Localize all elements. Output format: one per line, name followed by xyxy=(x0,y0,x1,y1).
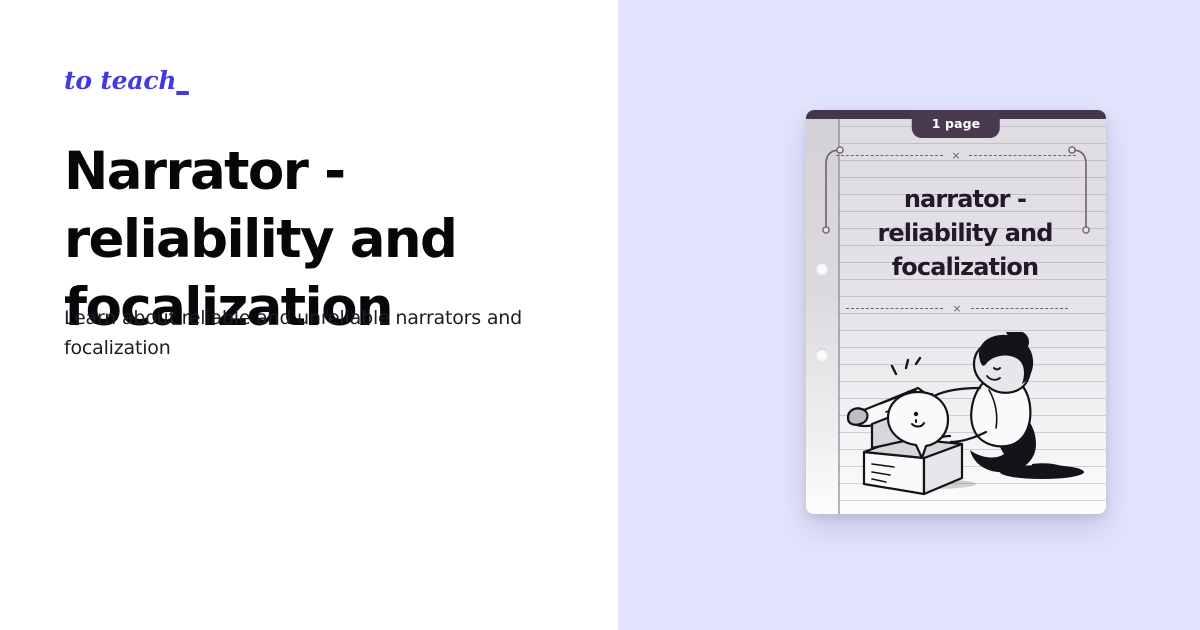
brand-cursor: _ xyxy=(176,66,188,95)
og-image-canvas: to teach_ Narrator - reliability and foc… xyxy=(0,0,1200,630)
page-subtitle: Learn about reliable and unreliable narr… xyxy=(64,303,564,363)
binder-margin-strip xyxy=(806,110,838,514)
cross-mark-icon: × xyxy=(952,303,961,314)
right-preview-panel: 1 page × xyxy=(618,0,1200,630)
binder-hole-icon xyxy=(816,348,828,360)
worksheet-illustration xyxy=(846,332,1094,500)
worksheet-preview-card[interactable]: 1 page × xyxy=(806,110,1106,514)
binder-hole-icon xyxy=(816,262,828,274)
left-content-panel: to teach_ Narrator - reliability and foc… xyxy=(0,0,618,630)
brand-name: to teach xyxy=(64,66,176,95)
page-count-badge: 1 page xyxy=(912,110,1000,138)
dash-segment-right xyxy=(971,308,1068,309)
margin-rule-line xyxy=(838,110,840,514)
worksheet-divider: × xyxy=(846,303,1068,314)
brand-logo[interactable]: to teach_ xyxy=(64,66,189,95)
dash-segment-left xyxy=(846,308,943,309)
worksheet-title: narrator - reliability and focalization xyxy=(850,182,1080,284)
